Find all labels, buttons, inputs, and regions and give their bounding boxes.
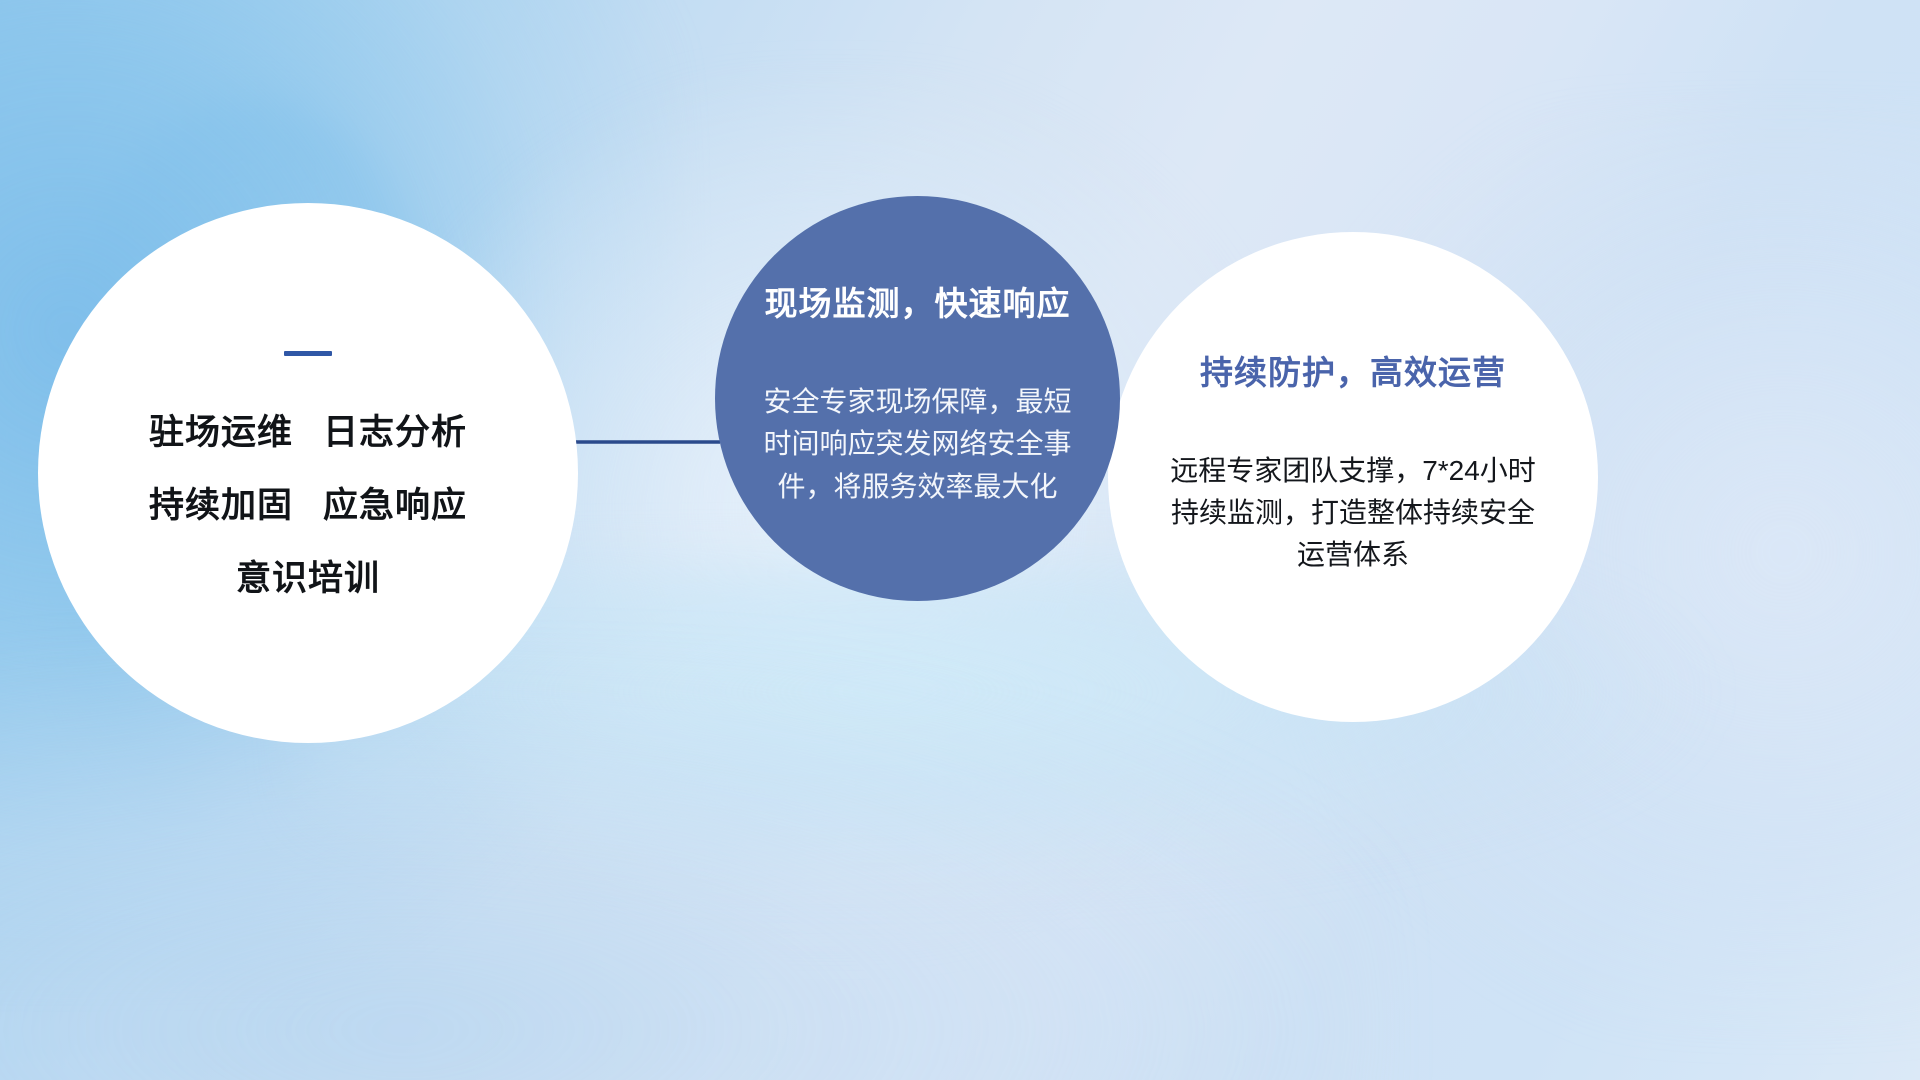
- onsite-monitoring-title: 现场监测，快速响应: [763, 277, 1073, 325]
- onsite-monitoring-circle: 现场监测，快速响应 安全专家现场保障，最短时间响应突发网络安全事件，将服务效率最…: [715, 196, 1120, 601]
- keyword-row: 持续加固 应急响应: [93, 477, 523, 528]
- capabilities-content: 驻场运维 日志分析 持续加固 应急响应 意识培训: [93, 345, 523, 601]
- onsite-monitoring-content: 现场监测，快速响应 安全专家现场保障，最短时间响应突发网络安全事件，将服务效率最…: [763, 277, 1073, 509]
- continuous-protection-content: 持续防护，高效运营 远程专家团队支撑，7*24小时持续监测，打造整体持续安全运营…: [1169, 346, 1537, 576]
- keyword-chip: 驻场运维: [149, 404, 293, 455]
- continuous-protection-title: 持续防护，高效运营: [1169, 346, 1537, 394]
- keyword-row: 驻场运维 日志分析: [93, 404, 523, 455]
- capabilities-circle: 驻场运维 日志分析 持续加固 应急响应 意识培训: [38, 203, 578, 743]
- keyword-row: 意识培训: [93, 550, 523, 601]
- keyword-chip: 意识培训: [236, 550, 380, 601]
- slide-canvas: 驻场运维 日志分析 持续加固 应急响应 意识培训 持续防护，高效运营 远程专家团…: [0, 0, 1920, 1080]
- keyword-chip: 应急响应: [323, 477, 467, 528]
- onsite-monitoring-body: 安全专家现场保障，最短时间响应突发网络安全事件，将服务效率最大化: [763, 381, 1073, 509]
- continuous-protection-circle: 持续防护，高效运营 远程专家团队支撑，7*24小时持续监测，打造整体持续安全运营…: [1108, 232, 1598, 722]
- keyword-chip: 持续加固: [149, 477, 293, 528]
- horizontal-dash-icon: [284, 351, 332, 356]
- continuous-protection-body: 远程专家团队支撑，7*24小时持续监测，打造整体持续安全运营体系: [1169, 450, 1537, 576]
- keyword-chip: 日志分析: [323, 404, 467, 455]
